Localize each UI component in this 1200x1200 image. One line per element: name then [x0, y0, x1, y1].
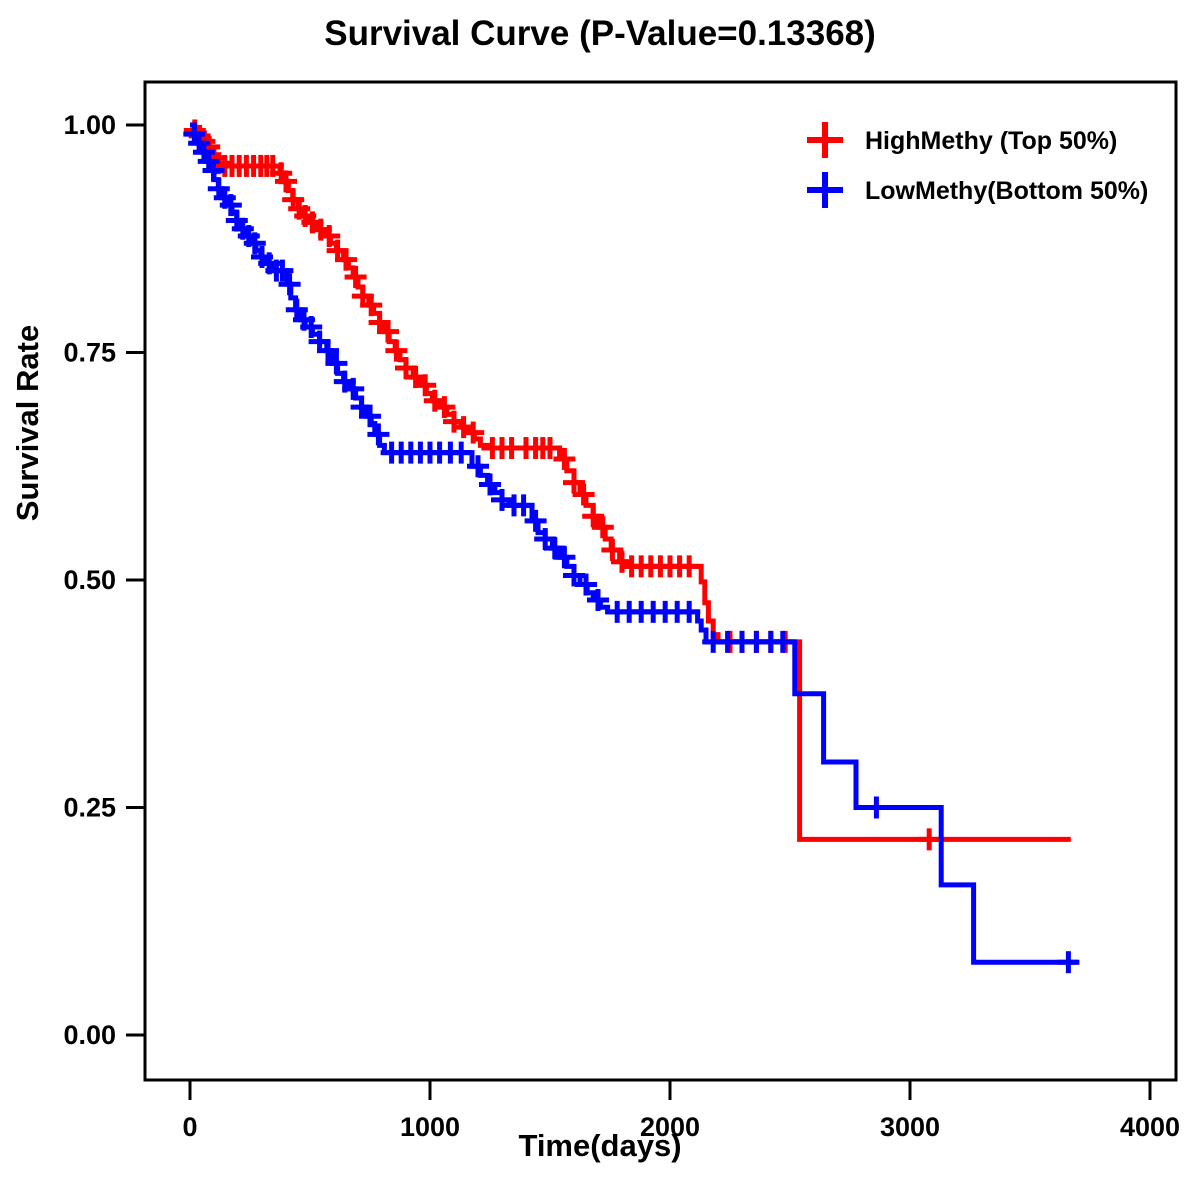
censor-marks — [184, 119, 940, 850]
x-tick-label: 1000 — [400, 1112, 460, 1142]
x-tick-label: 3000 — [880, 1112, 940, 1142]
x-tick-label: 0 — [182, 1112, 197, 1142]
plot-frame — [145, 82, 1176, 1080]
chart-legend[interactable]: HighMethy (Top 50%)LowMethy(Bottom 50%) — [807, 122, 1148, 208]
series-high-methy — [184, 119, 1071, 850]
legend-item-low-methy[interactable]: LowMethy(Bottom 50%) — [807, 172, 1148, 208]
survival-chart-figure: Survival Curve (P-Value=0.13368) Surviva… — [0, 0, 1200, 1200]
series-layer — [183, 119, 1079, 973]
censor-marks — [183, 123, 1079, 973]
y-tick-label: 0.00 — [63, 1020, 116, 1050]
x-tick-label: 2000 — [640, 1112, 700, 1142]
y-tick-label: 0.50 — [63, 565, 116, 595]
y-tick-label: 0.25 — [63, 793, 116, 823]
y-tick-label: 1.00 — [63, 110, 116, 140]
survival-step-line — [190, 125, 1078, 962]
plot-canvas: 0.000.250.500.751.00 01000200030004000 H… — [0, 0, 1200, 1200]
legend-item-high-methy[interactable]: HighMethy (Top 50%) — [807, 122, 1117, 158]
legend-label: LowMethy(Bottom 50%) — [865, 177, 1148, 205]
legend-label: HighMethy (Top 50%) — [865, 127, 1117, 155]
series-low-methy — [183, 123, 1079, 973]
x-axis-ticks: 01000200030004000 — [182, 1080, 1180, 1142]
axes-frame — [145, 82, 1176, 1080]
y-axis-ticks: 0.000.250.500.751.00 — [63, 110, 145, 1050]
y-tick-label: 0.75 — [63, 338, 116, 368]
x-tick-label: 4000 — [1120, 1112, 1180, 1142]
